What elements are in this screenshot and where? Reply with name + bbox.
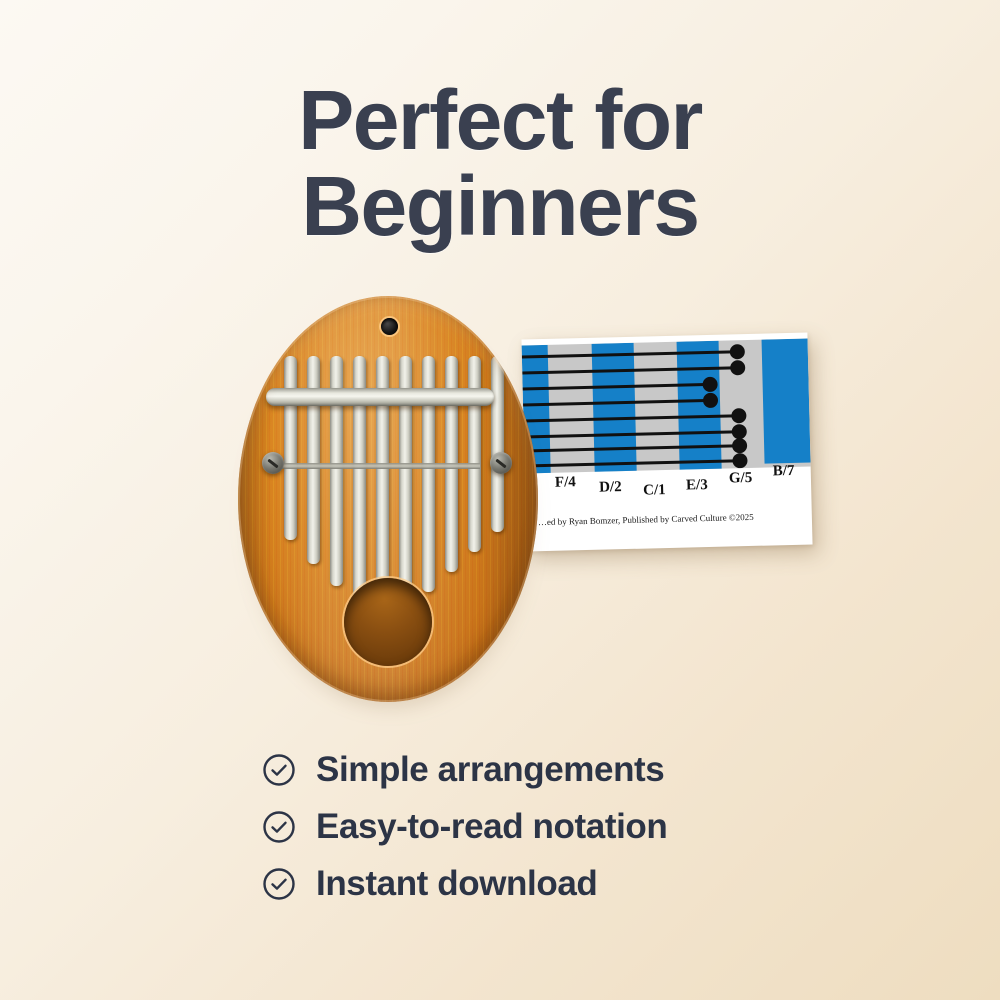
headline-line-1: Perfect for [0, 78, 1000, 164]
check-circle-icon [262, 810, 296, 844]
tab-column-blue [592, 343, 638, 474]
promo-graphic: Perfect for Beginners [0, 0, 1000, 1000]
tablature-card: F/4 D/2 C/1 E/3 G/5 B/7 …ed by Ryan Bomz… [521, 333, 812, 552]
note-label-f4: F/4 [555, 474, 576, 492]
sound-hole [344, 578, 432, 666]
right-screw [490, 452, 512, 474]
note-label-c1: C/1 [643, 482, 666, 500]
note-label-b7: B/7 [773, 463, 795, 481]
note-head [730, 360, 745, 375]
note-label-g5: G/5 [729, 470, 753, 488]
lower-bridge-bar [280, 463, 480, 469]
feature-list: Simple arrangements Easy-to-read notatio… [262, 752, 782, 923]
kalimba-instrument [238, 296, 538, 708]
top-hole [381, 318, 398, 335]
note-label-d2: D/2 [599, 479, 622, 497]
bridge-bar [266, 388, 494, 406]
tab-column-blue [762, 339, 811, 464]
tine-1 [284, 356, 297, 540]
feature-item: Easy-to-read notation [262, 809, 782, 844]
left-screw [262, 452, 284, 474]
check-circle-icon [262, 867, 296, 901]
feature-item: Instant download [262, 866, 782, 901]
tine-10 [491, 356, 504, 532]
check-circle-icon [262, 753, 296, 787]
kalimba-body [238, 296, 538, 702]
credit-line: …ed by Ryan Bomzer, Published by Carved … [538, 510, 812, 527]
tablature-grid [522, 339, 811, 474]
headline-line-2: Beginners [0, 164, 1000, 250]
feature-label: Simple arrangements [316, 752, 664, 787]
note-head [732, 438, 747, 453]
tine-9 [468, 356, 481, 552]
note-label-e3: E/3 [686, 477, 708, 495]
page-title: Perfect for Beginners [0, 78, 1000, 249]
note-head [730, 344, 745, 359]
feature-label: Easy-to-read notation [316, 809, 667, 844]
note-head [732, 424, 747, 439]
note-head [731, 408, 746, 423]
feature-label: Instant download [316, 866, 597, 901]
feature-item: Simple arrangements [262, 752, 782, 787]
note-head [732, 453, 747, 468]
tab-column-blue [677, 341, 723, 474]
